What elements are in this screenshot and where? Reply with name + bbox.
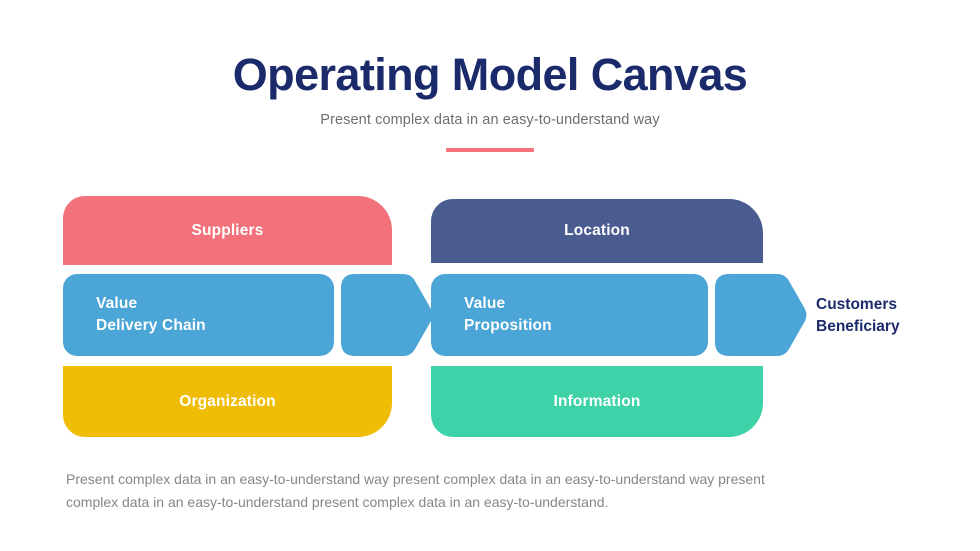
block-organization-label: Organization <box>179 393 276 411</box>
block-suppliers[interactable]: Suppliers <box>63 196 392 265</box>
block-location[interactable]: Location <box>431 199 763 263</box>
outcome-line-1: Customers <box>816 296 897 313</box>
block-location-label: Location <box>564 222 630 240</box>
slide-canvas: Operating Model Canvas Present complex d… <box>0 0 980 551</box>
arrow-right-icon-outcome-connector <box>715 274 807 356</box>
block-value-proposition[interactable]: Value Proposition <box>431 274 708 356</box>
block-value-proposition-label: Value Proposition <box>464 293 552 337</box>
footer-paragraph: Present complex data in an easy-to-under… <box>66 468 808 513</box>
block-information[interactable]: Information <box>431 366 763 437</box>
block-value-delivery-chain-label: Value Delivery Chain <box>96 293 206 337</box>
outcome-line-2: Beneficiary <box>816 318 900 335</box>
value-proposition-line-1: Value <box>464 295 505 312</box>
value-delivery-chain-line-1: Value <box>96 295 137 312</box>
value-delivery-chain-line-2: Delivery Chain <box>96 317 206 334</box>
block-value-delivery-chain[interactable]: Value Delivery Chain <box>63 274 334 356</box>
block-information-label: Information <box>554 393 641 411</box>
arrow-right-icon-left-connector <box>341 274 433 356</box>
block-organization[interactable]: Organization <box>63 366 392 437</box>
outcome-customers-beneficiary: Customers Beneficiary <box>816 294 966 338</box>
block-suppliers-label: Suppliers <box>192 222 264 240</box>
value-proposition-line-2: Proposition <box>464 317 552 334</box>
